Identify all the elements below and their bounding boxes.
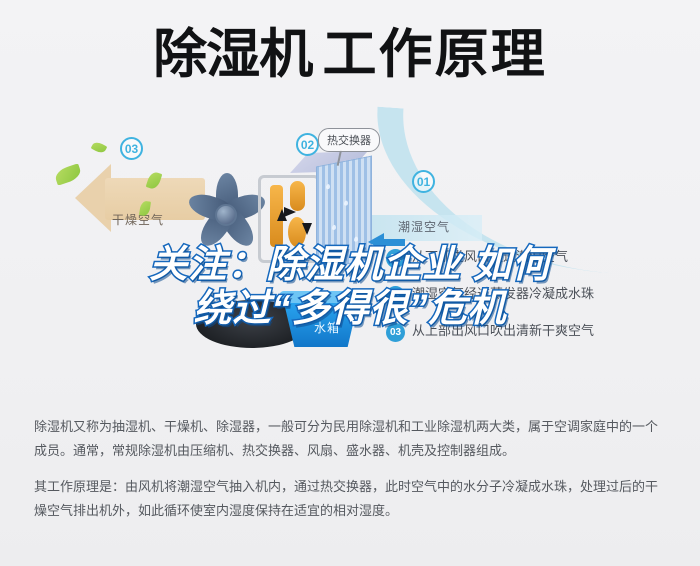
water-droplet [332, 225, 336, 231]
article-body: 除湿机又称为抽湿机、干燥机、除湿器，一般可分为民用除湿机和工业除湿机两大类，属于… [34, 415, 670, 535]
step-number-badge: 03 [386, 323, 405, 342]
water-droplet [354, 236, 358, 242]
heat-exchanger-callout: 热交换器 [318, 128, 380, 152]
page-title: 除湿机工作原理 [0, 24, 700, 86]
compressor-coil-illustration [258, 169, 320, 265]
list-item: 02 潮湿空气经过蒸发器冷凝成水珠 [386, 285, 686, 305]
flow-arrow-right-icon [284, 207, 296, 217]
heat-exchanger-fins [316, 156, 372, 271]
step-number-badge: 01 [386, 249, 405, 268]
step-number-badge: 02 [386, 286, 405, 305]
badge-01-diagram: 01 [412, 170, 435, 193]
paragraph-2: 其工作原理是：由风机将潮湿空气抽入机内，通过热交换器，此时空气中的水分子冷凝成水… [34, 475, 670, 523]
title-part-2: 工作原理 [322, 25, 546, 84]
infographic-page: 除湿机工作原理 03 干燥空气 [0, 0, 700, 566]
title-text: 除湿机工作原理 [153, 24, 547, 86]
list-item: 03 从上部出风口吹出清新干爽空气 [386, 322, 686, 342]
water-droplet [326, 184, 330, 190]
fan-hub [215, 204, 237, 226]
water-tank-label: 水箱 [314, 319, 340, 336]
intake-arrow-icon [368, 233, 384, 251]
step-text: 潮湿空气经过蒸发器冷凝成水珠 [412, 285, 594, 303]
paragraph-1: 除湿机又称为抽湿机、干燥机、除湿器，一般可分为民用除湿机和工业除湿机两大类，属于… [34, 415, 670, 463]
water-droplet [344, 200, 348, 206]
leaf-icon [91, 140, 108, 155]
intake-arrow-tail [383, 239, 405, 246]
water-tank-illustration: 水箱 [278, 291, 364, 349]
badge-03-diagram: 03 [120, 137, 143, 160]
dry-air-label: 干燥空气 [112, 211, 164, 228]
step-text: 从上部出风口吹出清新干爽空气 [412, 322, 594, 340]
list-item: 01 从下部进风口吸进潮湿空气 [386, 248, 686, 268]
title-part-1: 除湿机 [153, 25, 312, 84]
steps-list: 01 从下部进风口吸进潮湿空气 02 潮湿空气经过蒸发器冷凝成水珠 03 从上部… [386, 248, 686, 359]
refrigerant-pipe [258, 175, 320, 263]
humid-air-label: 潮湿空气 [398, 218, 450, 235]
badge-02-diagram: 02 [296, 133, 319, 156]
flow-arrow-down-icon [302, 223, 312, 235]
step-text: 从下部进风口吸进潮湿空气 [412, 248, 568, 266]
